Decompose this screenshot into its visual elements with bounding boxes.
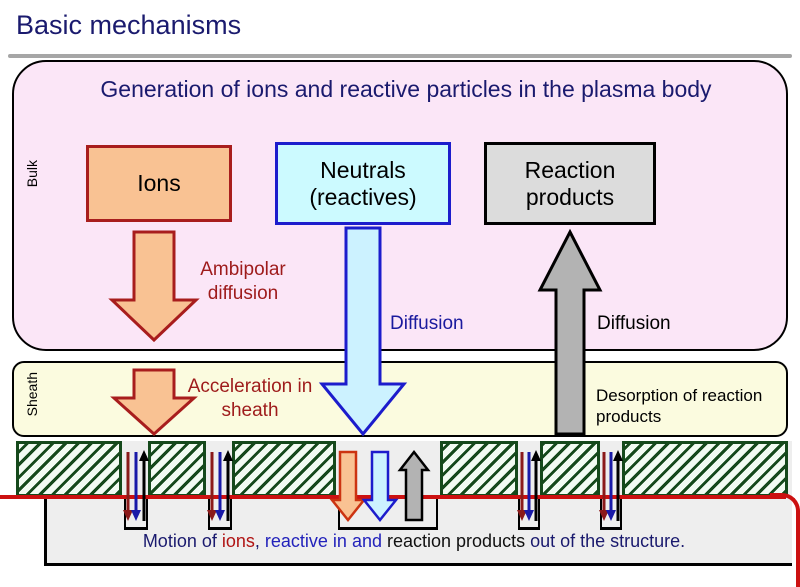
trench-wall: [436, 497, 438, 528]
trench-floor: [518, 527, 540, 530]
ambipolar-diffusion-label: Ambipolar diffusion: [183, 258, 303, 306]
trench-floor: [338, 527, 438, 530]
trench-wall: [518, 497, 520, 528]
caption-products: reaction products: [387, 531, 525, 551]
sheath-region-label: Sheath: [24, 372, 40, 416]
ions-box-label: Ions: [137, 170, 180, 197]
hatch-block: [540, 441, 600, 497]
caption-part2: ,: [255, 531, 265, 551]
neutrals-label-line1: Neutrals: [320, 157, 406, 183]
reaction-products-box[interactable]: Reaction products: [484, 142, 656, 225]
products-label-line1: Reaction: [525, 157, 616, 183]
trench-wall: [230, 497, 232, 528]
caption-out: out of the structure.: [530, 531, 685, 551]
patterned-structure: [0, 441, 800, 497]
trench-wall: [620, 497, 622, 528]
trench-wall: [338, 497, 340, 528]
products-diffusion-label: Diffusion: [597, 313, 671, 335]
trench-wall: [146, 497, 148, 528]
bias-line: [0, 495, 786, 499]
products-label-line2: products: [526, 184, 614, 210]
acceleration-in-sheath-label: Acceleration in sheath: [176, 375, 324, 423]
trench-floor: [124, 527, 148, 530]
slide-canvas: Basic mechanisms Generation of ions and …: [0, 0, 800, 586]
trench-wall: [208, 497, 210, 528]
bulk-region-label: Bulk: [24, 160, 40, 187]
trench-floor: [600, 527, 622, 530]
hatch-block: [232, 441, 336, 497]
trench-wall: [538, 497, 540, 528]
trench-wall: [124, 497, 126, 528]
caption-ions: ions: [222, 531, 255, 551]
neutral-diffusion-label: Diffusion: [390, 313, 464, 335]
hatch-block: [440, 441, 518, 497]
bulk-heading: Generation of ions and reactive particle…: [76, 74, 736, 104]
title-divider: [8, 54, 792, 58]
caption-part1: Motion of: [143, 531, 222, 551]
trench-floor: [208, 527, 232, 530]
caption-reactive: reactive in: [265, 531, 347, 551]
page-title: Basic mechanisms: [16, 10, 241, 41]
bottom-caption: Motion of ions, reactive in and reaction…: [44, 531, 784, 552]
hatch-block: [148, 441, 206, 497]
reaction-products-box-label: Reaction products: [525, 157, 616, 211]
neutrals-box[interactable]: Neutrals (reactives): [275, 142, 451, 225]
trench-wall: [600, 497, 602, 528]
caption-part3: and: [347, 531, 387, 551]
ions-box[interactable]: Ions: [86, 145, 232, 222]
hatch-block: [622, 441, 788, 497]
hatch-block: [16, 441, 122, 497]
neutrals-label-line2: (reactives): [309, 184, 416, 210]
desorption-label: Desorption of reaction products: [596, 385, 772, 427]
neutrals-box-label: Neutrals (reactives): [309, 157, 416, 211]
